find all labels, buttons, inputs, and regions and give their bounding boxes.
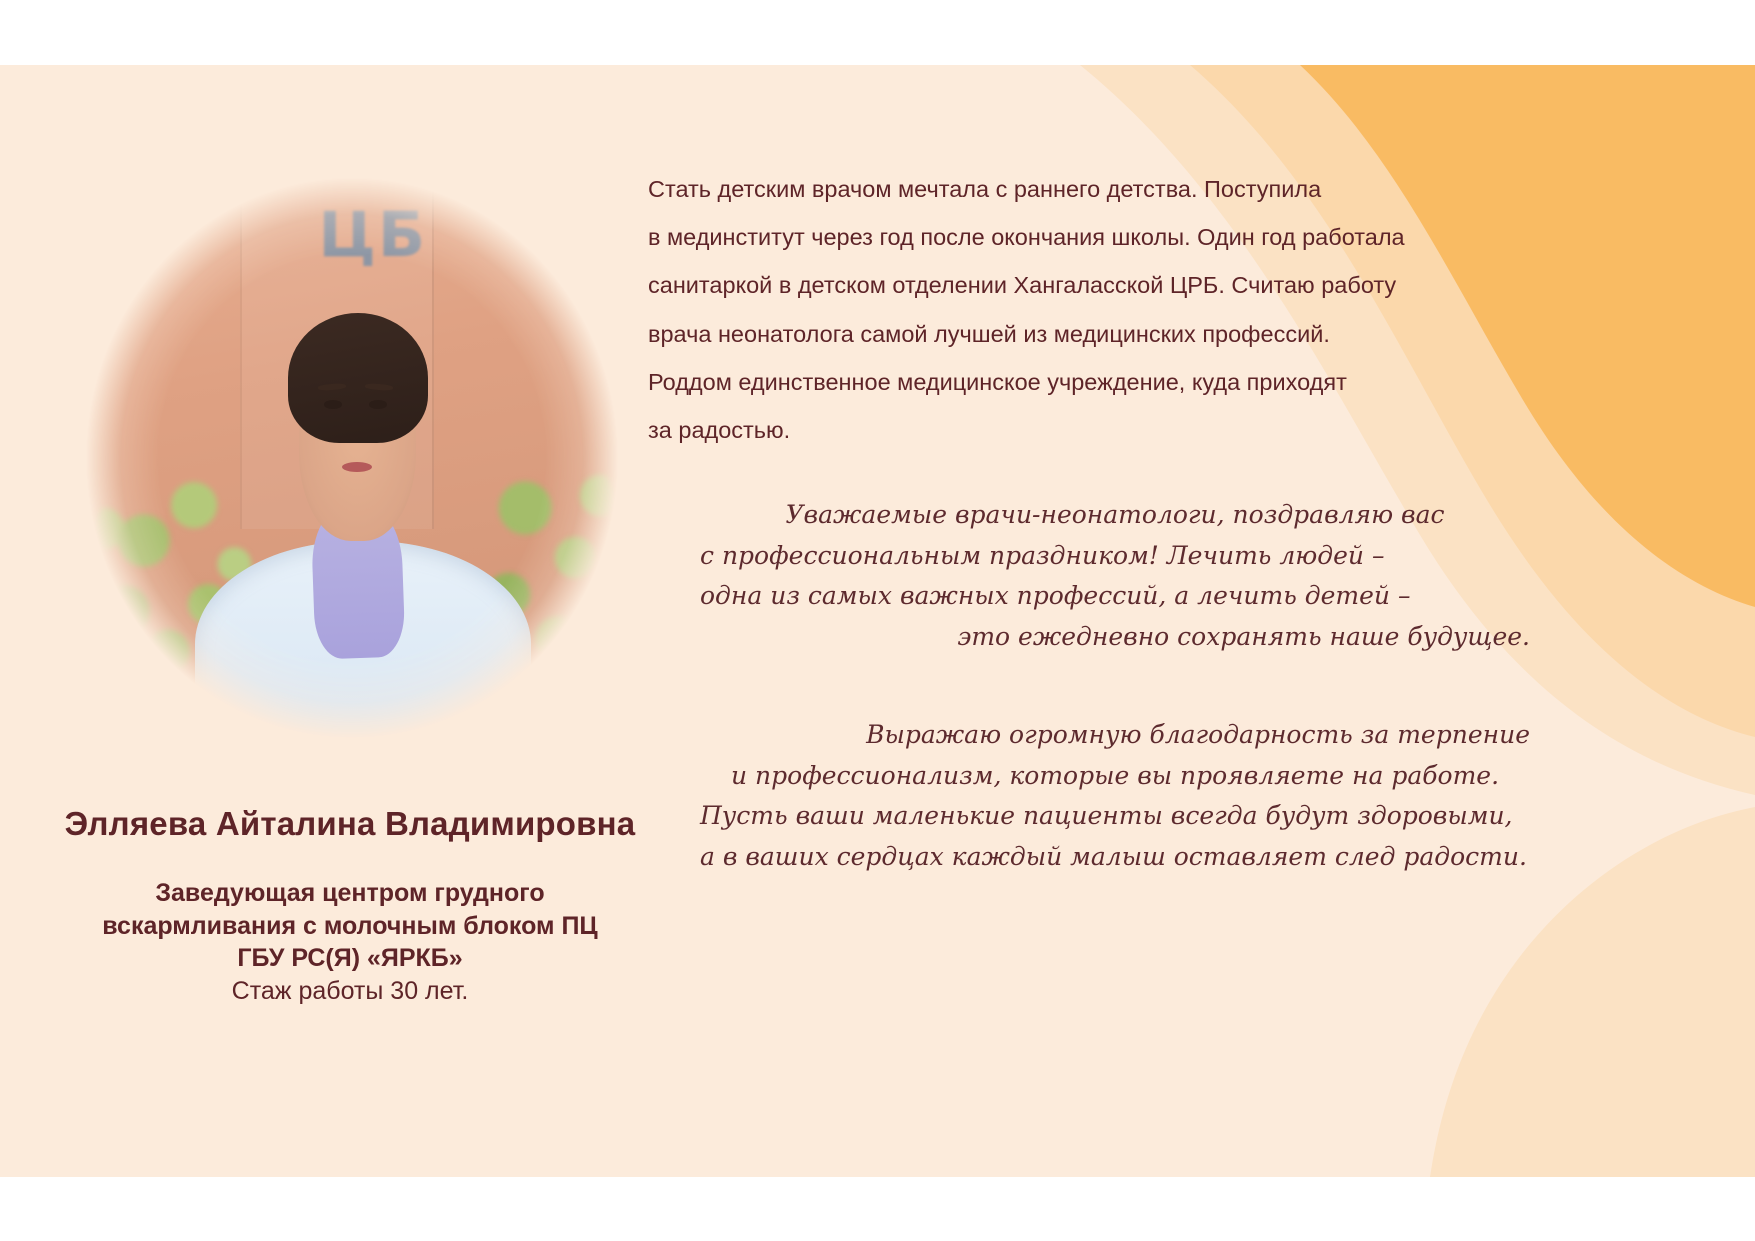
bio-line: врача неонатолога самой лучшей из медици… bbox=[648, 310, 1518, 358]
eye-right bbox=[369, 400, 387, 409]
bio-line: за радостью. bbox=[648, 406, 1518, 454]
portrait-photo: ЦБ bbox=[72, 163, 632, 753]
person-role: Заведующая центром грудного вскармливани… bbox=[0, 877, 700, 1007]
greeting-line: Пусть ваши маленькие пациенты всегда буд… bbox=[700, 796, 1530, 837]
person-name: Элляева Айталина Владимировна bbox=[0, 805, 700, 843]
role-line: Заведующая центром грудного bbox=[0, 877, 700, 910]
bio-line: Стать детским врачом мечтала с раннего д… bbox=[648, 165, 1518, 213]
greeting-line: Уважаемые врачи-неонатологи, поздравляю … bbox=[700, 495, 1530, 536]
lips bbox=[342, 462, 372, 472]
greeting-line: с профессиональным праздником! Лечить лю… bbox=[700, 536, 1530, 577]
bio-line: в мединститут через год после окончания … bbox=[648, 213, 1518, 261]
greeting-line: одна из самых важных профессий, а лечить… bbox=[700, 576, 1530, 617]
eye-left bbox=[324, 400, 342, 409]
role-line: вскармливания с молочным блоком ПЦ bbox=[0, 910, 700, 943]
greeting-line: это ежедневно сохранять наше будущее. bbox=[700, 617, 1530, 658]
greeting-line: Выражаю огромную благодарность за терпен… bbox=[700, 715, 1530, 756]
bio-line: Роддом единственное медицинское учрежден… bbox=[648, 358, 1518, 406]
slide-canvas: ЦБ Элляева Айталина Владимировна Заведую… bbox=[0, 65, 1755, 1177]
hair bbox=[288, 313, 428, 443]
role-line: ГБУ РС(Я) «ЯРКБ» bbox=[0, 942, 700, 975]
role-line-experience: Стаж работы 30 лет. bbox=[0, 975, 700, 1008]
wall-logo-text: ЦБ bbox=[318, 198, 486, 281]
avatar: ЦБ bbox=[72, 163, 632, 753]
greeting-line: а в ваших сердцах каждый малыш оставляет… bbox=[700, 837, 1530, 878]
greeting-paragraph-2: Выражаю огромную благодарность за терпен… bbox=[700, 715, 1530, 877]
bio-line: санитаркой в детском отделении Хангаласс… bbox=[648, 261, 1518, 309]
greeting-paragraph-1: Уважаемые врачи-неонатологи, поздравляю … bbox=[700, 495, 1530, 657]
biography-text: Стать детским врачом мечтала с раннего д… bbox=[648, 165, 1518, 454]
greeting-line: и профессионализм, которые вы проявляете… bbox=[700, 756, 1530, 797]
